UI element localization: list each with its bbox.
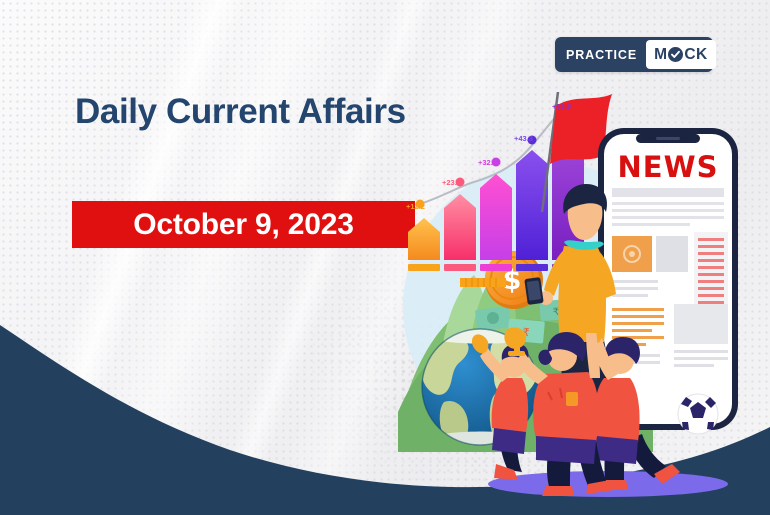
- soccer-ball-icon: [678, 394, 718, 434]
- practice-mock-logo[interactable]: PRACTICE M CK: [555, 37, 713, 72]
- logo-mock-badge: M CK: [646, 40, 716, 69]
- coin-stack: [460, 278, 506, 287]
- check-icon: [668, 47, 683, 62]
- logo-mock-text-ck: CK: [684, 46, 707, 64]
- daily-current-affairs-banner: PRACTICE M CK Daily Current Affairs Octo…: [0, 0, 770, 515]
- logo-practice-text: PRACTICE: [558, 48, 646, 62]
- bar-label-3: +32.5: [478, 158, 497, 167]
- bar-label-2: +23.5: [442, 178, 461, 187]
- page-title: Daily Current Affairs: [75, 92, 406, 132]
- bar-label-5: +55.5: [552, 102, 571, 111]
- illustration-group: ₹ ₹ $: [398, 92, 770, 515]
- news-headline: NEWS: [618, 150, 719, 184]
- date-badge: October 9, 2023: [72, 201, 415, 248]
- bar-label-1: +12.2: [406, 202, 425, 211]
- logo-mock-text-m: M: [654, 46, 667, 64]
- bar-label-4: +43.3: [514, 134, 533, 143]
- date-text: October 9, 2023: [133, 208, 353, 242]
